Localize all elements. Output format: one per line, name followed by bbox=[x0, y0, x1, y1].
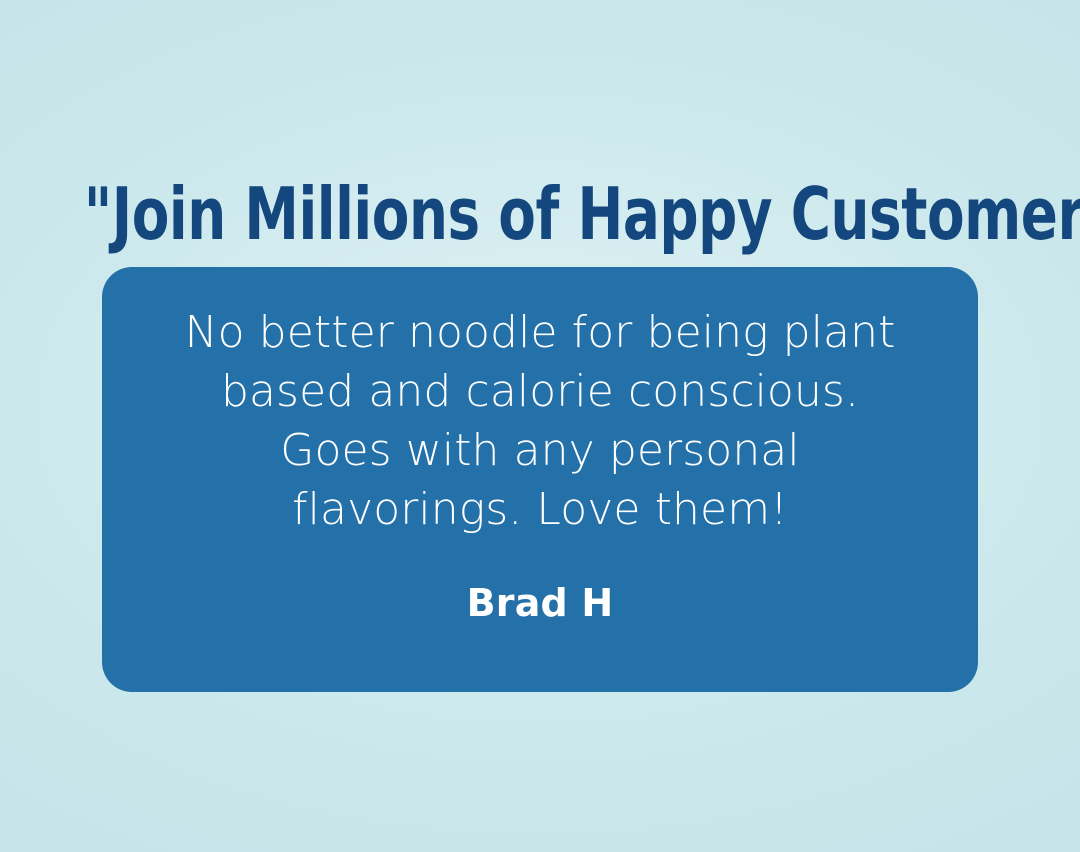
testimonial-author: Brad H bbox=[142, 539, 938, 627]
page-title: "Join Millions of Happy Customers" bbox=[84, 166, 997, 262]
quote-line: Goes with any personal bbox=[142, 421, 938, 480]
testimonial-poster: "Join Millions of Happy Customers" No be… bbox=[0, 0, 1080, 852]
testimonial-card: No better noodle for being plant based a… bbox=[102, 267, 978, 692]
testimonial-quote: No better noodle for being plant based a… bbox=[142, 303, 938, 539]
quote-line: based and calorie conscious. bbox=[142, 362, 938, 421]
quote-line: flavorings. Love them! bbox=[142, 480, 938, 539]
quote-line: No better noodle for being plant bbox=[142, 303, 938, 362]
